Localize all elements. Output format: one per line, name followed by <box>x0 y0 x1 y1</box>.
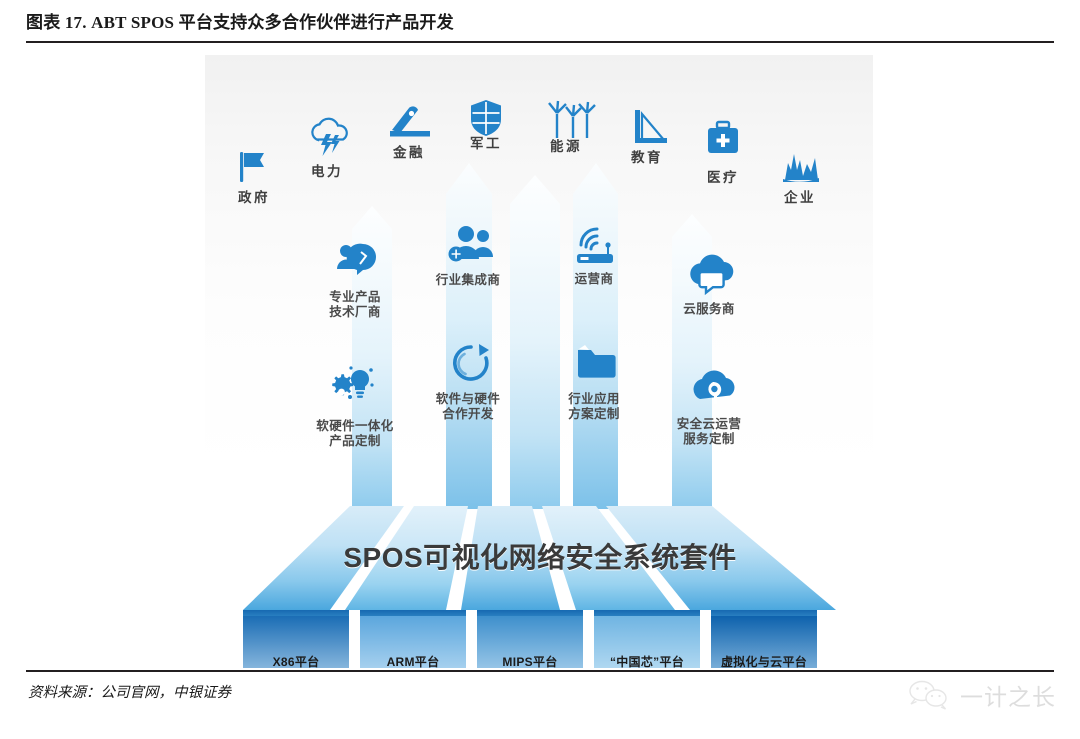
wind-turbine-icon <box>549 101 595 138</box>
power-cloud-icon <box>312 119 346 156</box>
buildings-icon <box>783 154 819 182</box>
finance-icon <box>390 106 430 136</box>
platform-label-china-chip: “中国芯”平台 <box>594 653 700 670</box>
medical-kit-icon <box>708 122 738 153</box>
sector-label-power: 电力 <box>287 164 367 180</box>
header-divider <box>26 41 1054 43</box>
figure-canvas: SPOS可视化网络安全系统套件 政府 电力 金融 军工 能源 教育 医疗 企业 … <box>0 44 1080 668</box>
pillar-2 <box>446 163 492 509</box>
partner-label-product-vendor: 专业产品 技术厂商 <box>295 290 415 320</box>
partner-label-solution-custom: 行业应用 方案定制 <box>534 392 654 422</box>
shield-icon <box>471 100 501 136</box>
platform-label-arm: ARM平台 <box>360 653 466 670</box>
watermark: 一计之长 <box>907 678 1056 712</box>
partner-label-codev: 软件与硬件 合作开发 <box>408 392 528 422</box>
platform-label-virtualization-cloud: 虚拟化与云平台 <box>711 653 817 670</box>
sector-label-energy: 能源 <box>526 139 606 155</box>
flag-icon <box>240 152 264 182</box>
platform-label-x86: X86平台 <box>243 653 349 670</box>
partner-label-cloud-provider: 云服务商 <box>649 302 769 317</box>
sector-label-defense: 军工 <box>446 136 526 152</box>
pillar-group <box>352 163 712 509</box>
sector-label-finance: 金融 <box>369 145 449 161</box>
sector-label-education: 教育 <box>607 150 687 166</box>
pillar-3 <box>510 175 560 509</box>
footer-divider <box>26 670 1054 672</box>
page-title: 图表 17. ABT SPOS 平台支持众多合作伙伴进行产品开发 <box>26 8 1054 33</box>
partner-label-integrated-custom: 软硬件一体化 产品定制 <box>295 419 415 449</box>
partner-label-secure-cloud: 安全云运营 服务定制 <box>649 417 769 447</box>
platform-label-mips: MIPS平台 <box>477 653 583 670</box>
source-note: 资料来源：公司官网，中银证券 <box>28 681 231 702</box>
sector-label-government: 政府 <box>214 190 294 206</box>
banner-title: SPOS可视化网络安全系统套件 <box>0 536 1080 576</box>
figure-header: 图表 17. ABT SPOS 平台支持众多合作伙伴进行产品开发 <box>26 8 1054 42</box>
watermark-text: 一计之长 <box>960 678 1056 712</box>
sector-label-medical: 医疗 <box>683 170 763 186</box>
sector-label-enterprise: 企业 <box>760 190 840 206</box>
partner-label-operator: 运营商 <box>534 272 654 287</box>
pillar-4 <box>573 163 618 509</box>
partner-label-integrator: 行业集成商 <box>408 273 528 288</box>
wechat-icon <box>907 680 953 710</box>
ruler-icon <box>635 110 667 143</box>
